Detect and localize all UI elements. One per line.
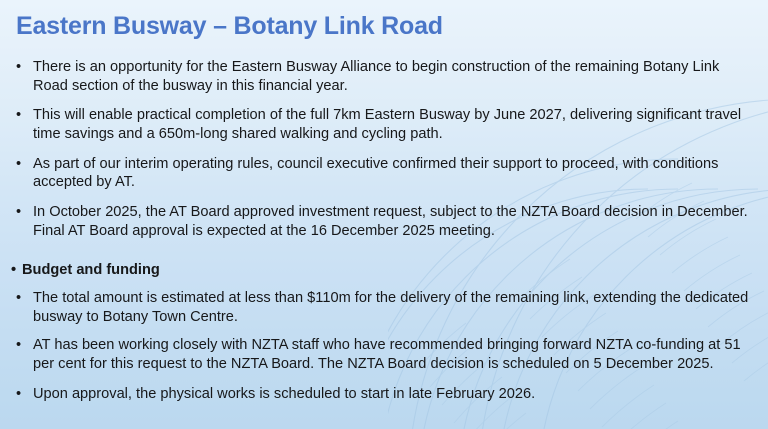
list-item-text: As part of our interim operating rules, … — [33, 156, 718, 191]
bullet-body: • There is an opportunity for the Easter… — [0, 58, 768, 414]
bullet-list: • There is an opportunity for the Easter… — [0, 58, 768, 403]
section-heading-budget-and-funding: • Budget and funding — [0, 261, 768, 280]
list-item-text: The total amount is estimated at less th… — [33, 290, 748, 325]
bullet-dot-icon: • — [16, 289, 21, 308]
list-item: • In October 2025, the AT Board approved… — [0, 203, 768, 240]
list-item: • As part of our interim operating rules… — [0, 155, 768, 192]
bullet-dot-icon: • — [16, 155, 21, 174]
bullet-dot-icon: • — [16, 203, 21, 222]
bullet-dot-icon: • — [16, 58, 21, 77]
bullet-dot-icon: • — [16, 385, 21, 404]
list-item: • Upon approval, the physical works is s… — [0, 385, 768, 404]
bullet-dot-icon: • — [16, 106, 21, 125]
section-heading-text: Budget and funding — [22, 262, 160, 278]
list-item: • This will enable practical completion … — [0, 106, 768, 143]
list-item-text: In October 2025, the AT Board approved i… — [33, 204, 748, 239]
presentation-slide: Eastern Busway – Botany Link Road • Ther… — [0, 0, 768, 429]
bullet-dot-icon: • — [11, 261, 16, 280]
list-item: • AT has been working closely with NZTA … — [0, 336, 768, 373]
list-item-text: There is an opportunity for the Eastern … — [33, 59, 719, 94]
page-title: Eastern Busway – Botany Link Road — [16, 12, 443, 41]
list-item: • There is an opportunity for the Easter… — [0, 58, 768, 95]
list-item-text: Upon approval, the physical works is sch… — [33, 386, 535, 402]
list-item-text: This will enable practical completion of… — [33, 107, 741, 142]
list-item-text: AT has been working closely with NZTA st… — [33, 337, 741, 372]
bullet-dot-icon: • — [16, 336, 21, 355]
list-item: • The total amount is estimated at less … — [0, 289, 768, 326]
